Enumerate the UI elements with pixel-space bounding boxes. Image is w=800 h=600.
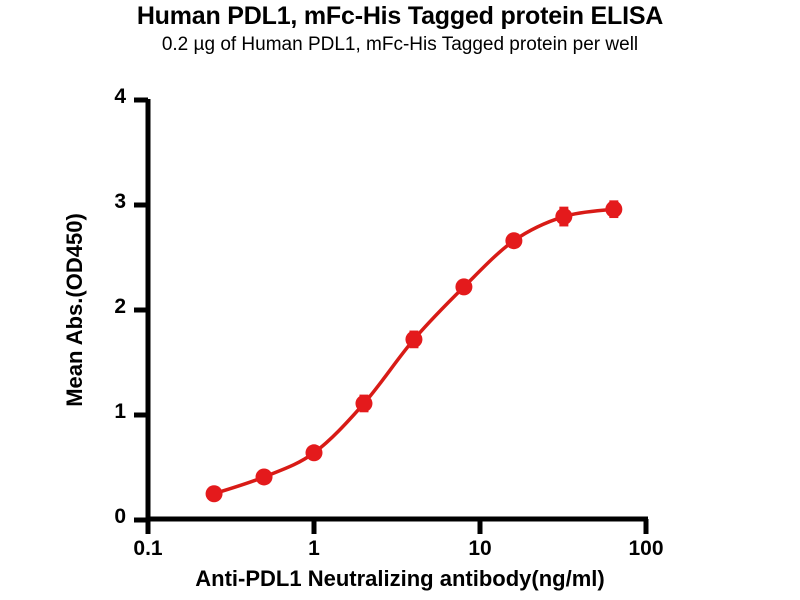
y-axis-label-text: Mean Abs.(OD450) bbox=[62, 175, 88, 445]
y-tick-label: 1 bbox=[96, 400, 126, 424]
data-point bbox=[555, 208, 572, 225]
x-axis-label: Anti-PDL1 Neutralizing antibody(ng/ml) bbox=[80, 566, 720, 592]
x-tick-label: 0.1 bbox=[113, 537, 183, 561]
data-point bbox=[605, 201, 622, 218]
y-axis-label: Mean Abs.(OD450) bbox=[62, 0, 88, 175]
axes bbox=[146, 99, 648, 521]
x-tick-label: 10 bbox=[445, 537, 515, 561]
data-point bbox=[355, 395, 372, 412]
error-bars bbox=[210, 202, 619, 496]
y-tick-label: 3 bbox=[96, 190, 126, 214]
data-point bbox=[206, 485, 223, 502]
curve-path bbox=[214, 209, 614, 494]
data-point bbox=[505, 232, 522, 249]
elisa-chart-figure: Human PDL1, mFc-His Tagged protein ELISA… bbox=[0, 0, 800, 600]
y-tick-label: 4 bbox=[96, 85, 126, 109]
fitted-curve bbox=[214, 209, 614, 494]
y-tick-label: 0 bbox=[96, 505, 126, 529]
x-tick-label: 1 bbox=[279, 537, 349, 561]
data-point bbox=[256, 468, 273, 485]
x-tick-label: 100 bbox=[611, 537, 681, 561]
y-tick-label: 2 bbox=[96, 295, 126, 319]
data-point bbox=[306, 444, 323, 461]
data-point bbox=[455, 278, 472, 295]
data-point bbox=[405, 331, 422, 348]
data-points bbox=[206, 201, 623, 503]
